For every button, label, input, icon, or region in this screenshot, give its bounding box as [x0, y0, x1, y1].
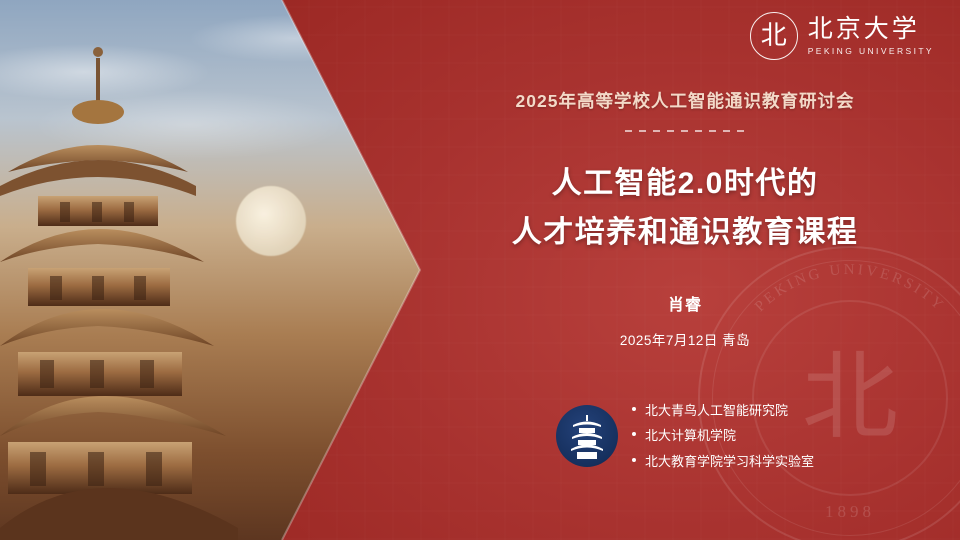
slide-title-line-1: 人工智能2.0时代的 [430, 160, 940, 209]
slide-title-line-2: 人才培养和通识教育课程 [430, 209, 940, 258]
list-item: 北大计算机学院 [632, 423, 814, 448]
list-item: 北大青鸟人工智能研究院 [632, 398, 814, 423]
slide-content: 2025年高等学校人工智能通识教育研讨会 人工智能2.0时代的 人才培养和通识教… [430, 0, 940, 540]
conference-name: 2025年高等学校人工智能通识教育研讨会 [430, 88, 940, 113]
institute-badge-icon [556, 405, 618, 467]
slide-title: 人工智能2.0时代的 人才培养和通识教育课程 [430, 160, 940, 257]
chevron-divider [270, 0, 430, 540]
list-item: 北大教育学院学习科学实验室 [632, 449, 814, 474]
date-and-place: 2025年7月12日 青岛 [430, 329, 940, 349]
author-name: 肖睿 [430, 291, 940, 315]
affiliation-list: 北大青鸟人工智能研究院 北大计算机学院 北大教育学院学习科学实验室 [632, 398, 814, 474]
tower-emblem-icon [570, 413, 604, 461]
affiliation-block: 北大青鸟人工智能研究院 北大计算机学院 北大教育学院学习科学实验室 [430, 398, 940, 474]
presentation-slide: PEKING UNIVERSITY 北 1898 [0, 0, 960, 540]
dashed-divider [625, 130, 745, 132]
